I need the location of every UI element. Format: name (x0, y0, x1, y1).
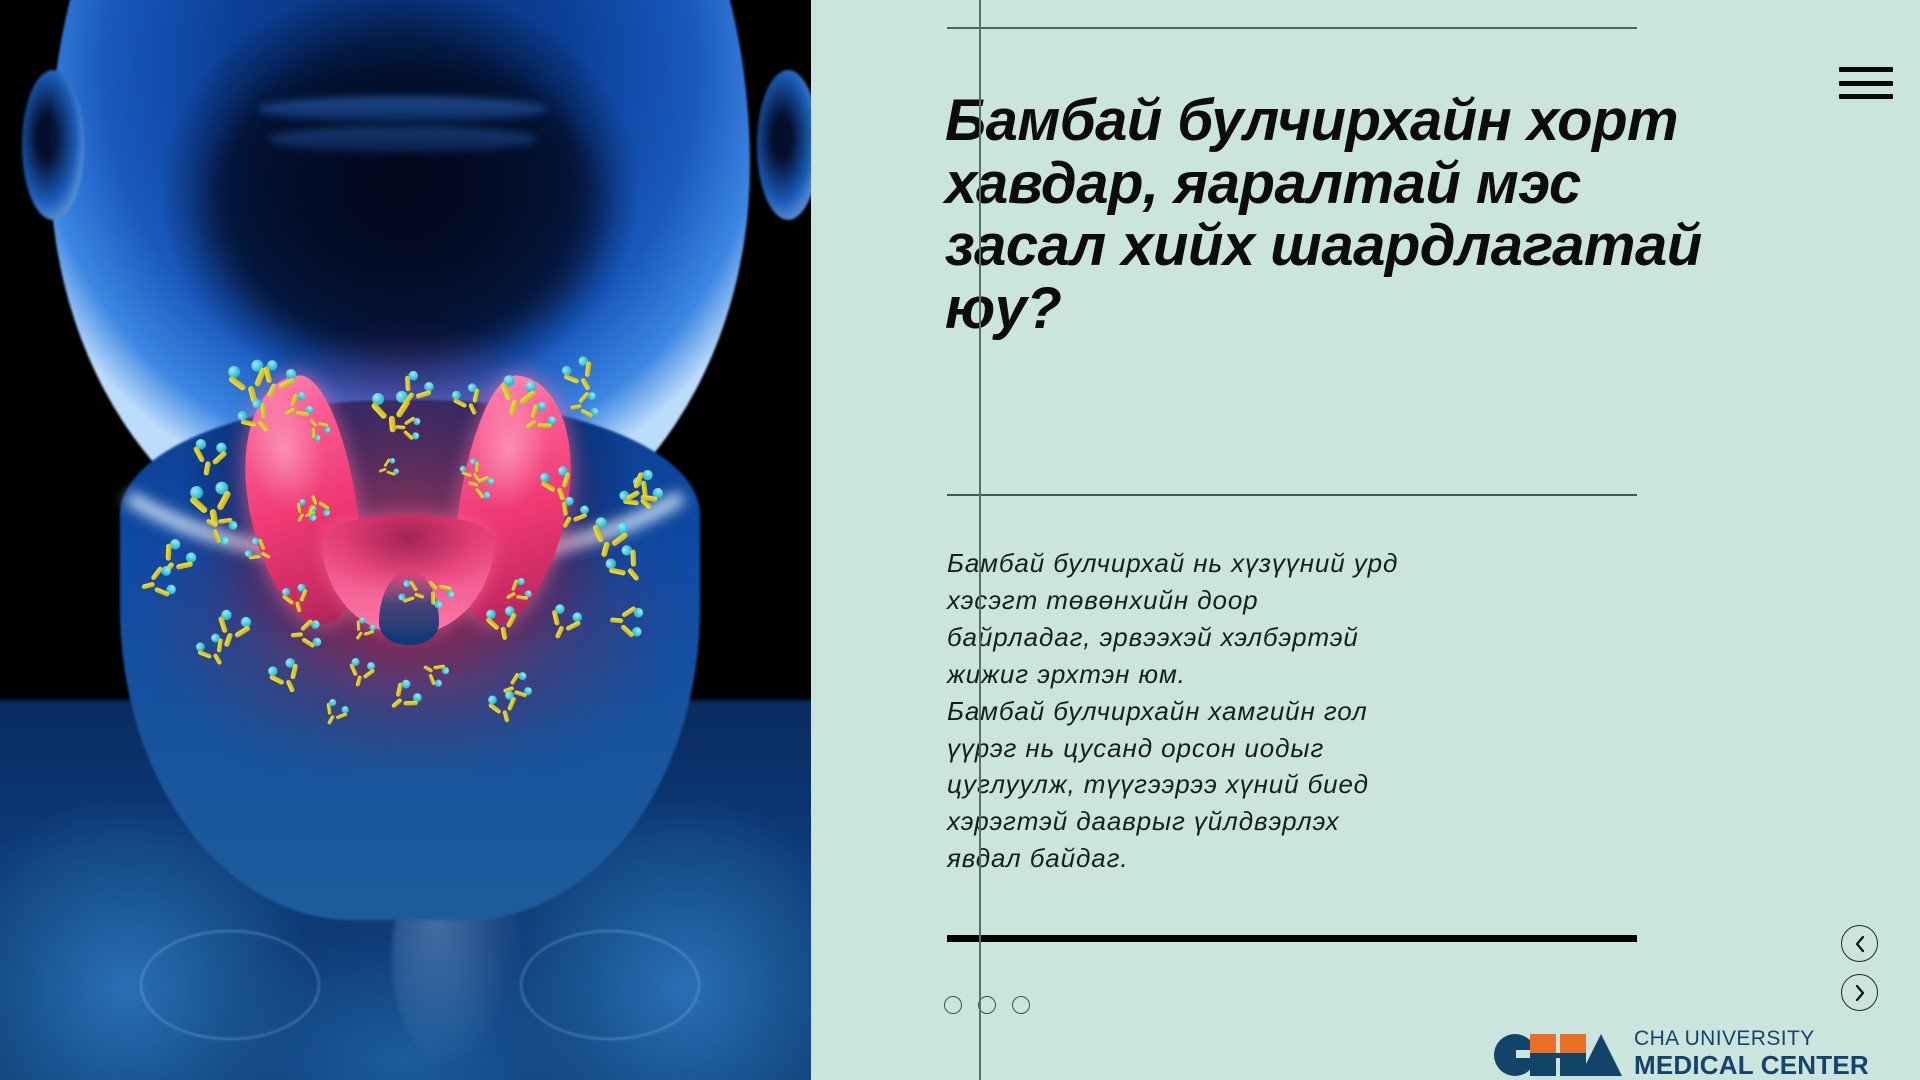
carousel-prev-button[interactable] (1841, 925, 1878, 962)
ear-left (22, 70, 84, 220)
menu-line-2 (1839, 81, 1893, 86)
hamburger-menu-icon[interactable] (1839, 63, 1893, 103)
logo-h-crossbar (1530, 1053, 1586, 1058)
ear-right (757, 70, 811, 220)
menu-line-1 (1839, 67, 1893, 72)
logo-square-navy-left (1530, 1057, 1556, 1076)
menu-line-3 (1839, 94, 1893, 99)
cha-university-medical-center-logo[interactable]: CHA UNIVERSITY MEDICAL CENTER (1494, 1028, 1869, 1078)
logo-square-orange-left (1530, 1034, 1556, 1053)
divider-bottom-thick (947, 935, 1637, 942)
divider-top (947, 27, 1637, 29)
vessel-right (520, 930, 700, 1040)
carousel-dot-3[interactable] (1012, 996, 1030, 1014)
logo-line-medical-center: MEDICAL CENTER (1634, 1052, 1869, 1078)
vessel-left (140, 930, 320, 1040)
page-title: Бамбай булчирхайн хорт хавдар, яаралтай … (945, 90, 1705, 341)
chevron-left-icon (1854, 935, 1866, 953)
slide-root: Бамбай булчирхайн хорт хавдар, яаралтай … (0, 0, 1920, 1080)
carousel-dot-1[interactable] (944, 996, 962, 1014)
divider-middle (947, 494, 1637, 496)
content-panel: Бамбай булчирхайн хорт хавдар, яаралтай … (811, 0, 1920, 1080)
body-text: Бамбай булчирхай нь хүзүүний урд хэсэгт … (947, 545, 1567, 877)
logo-wordmark: CHA UNIVERSITY MEDICAL CENTER (1634, 1028, 1869, 1078)
right-rail-divider (979, 0, 981, 1080)
carousel-pagination[interactable] (944, 996, 1030, 1014)
chevron-right-icon (1854, 984, 1866, 1002)
logo-a-triangle (1580, 1034, 1622, 1076)
cha-logo-mark (1494, 1031, 1620, 1076)
logo-line-university: CHA UNIVERSITY (1634, 1028, 1869, 1049)
mouth-lower (268, 126, 538, 152)
carousel-next-button[interactable] (1841, 974, 1878, 1011)
thyroid-illustration-panel (0, 0, 811, 1080)
mouth-upper (258, 96, 548, 122)
